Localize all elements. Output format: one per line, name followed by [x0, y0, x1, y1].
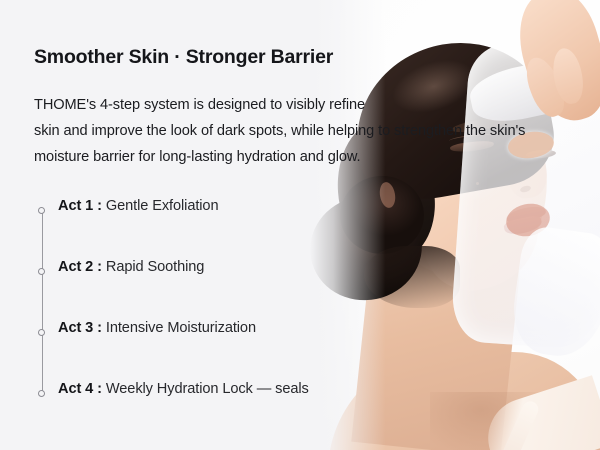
act-text: Act 3 : Intensive Moisturization: [58, 318, 256, 338]
intro-paragraph: THOME's 4-step system is designed to vis…: [34, 92, 525, 170]
timeline-dot-icon: [38, 390, 45, 397]
timeline-dot-icon: [38, 268, 45, 275]
intro-line-3: moisture barrier for long-lasting hydrat…: [34, 144, 525, 170]
act-description: Rapid Soothing: [106, 259, 204, 275]
list-item: Act 1 : Gentle Exfoliation: [34, 196, 454, 257]
act-text: Act 4 : Weekly Hydration Lock — seals: [58, 379, 309, 399]
timeline-dot-icon: [38, 329, 45, 336]
act-label: Act 1 :: [58, 198, 102, 214]
act-label: Act 2 :: [58, 259, 102, 275]
act-description: Intensive Moisturization: [106, 320, 256, 336]
act-description: Gentle Exfoliation: [106, 198, 219, 214]
list-item: Act 3 : Intensive Moisturization: [34, 318, 454, 379]
intro-line-1: THOME's 4-step system is designed to vis…: [34, 92, 525, 118]
list-item: Act 2 : Rapid Soothing: [34, 257, 454, 318]
act-text: Act 1 : Gentle Exfoliation: [58, 196, 218, 216]
page-title: Smoother Skin · Stronger Barrier: [34, 46, 333, 69]
list-item: Act 4 : Weekly Hydration Lock — seals: [34, 379, 454, 440]
intro-line-2: skin and improve the look of dark spots,…: [34, 118, 525, 144]
act-text: Act 2 : Rapid Soothing: [58, 257, 204, 277]
act-timeline: Act 1 : Gentle Exfoliation Act 2 : Rapid…: [34, 196, 454, 440]
timeline-dot-icon: [38, 207, 45, 214]
act-label: Act 4 :: [58, 381, 102, 397]
act-label: Act 3 :: [58, 320, 102, 336]
act-description: Weekly Hydration Lock — seals: [106, 381, 309, 397]
content-panel: Smoother Skin · Stronger Barrier THOME's…: [0, 0, 560, 450]
